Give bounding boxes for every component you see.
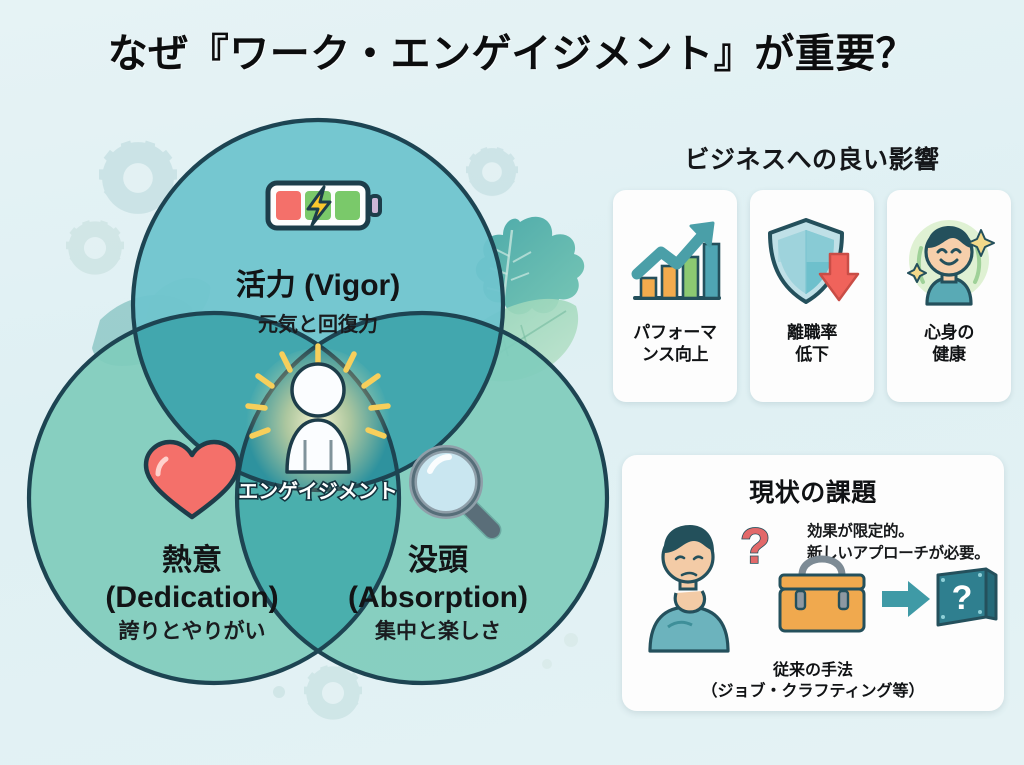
dedication-title: 熱意	[162, 543, 222, 577]
impact-card-list: パフォーマ ンス向上	[612, 190, 1012, 402]
impact-card-health[interactable]: 心身の 健康	[887, 190, 1011, 402]
question-mark-icon: ?	[740, 518, 771, 574]
battery-charging-icon	[268, 183, 380, 228]
impact-card-label: 心身の 健康	[924, 322, 974, 366]
business-impact-panel: ビジネスへの良い影響 パフォーマ ンス向	[612, 140, 1012, 430]
challenge-caption: 従来の手法 （ジョブ・クラフティング等）	[622, 661, 1004, 703]
toolbox-icon	[780, 559, 864, 631]
svg-text:?: ?	[740, 518, 771, 574]
impact-card-performance[interactable]: パフォーマ ンス向上	[613, 190, 737, 402]
current-challenge-panel: 現状の課題 効果が限定的。 新しいアプローチが必要。 ?	[622, 455, 1004, 711]
impact-card-turnover[interactable]: 離職率 低下	[750, 190, 874, 402]
vigor-subtitle: 元気と回復力	[258, 312, 378, 336]
dedication-subtitle: 誇りとやりがい	[119, 619, 266, 643]
title-bar: なぜ『ワーク・エンゲイジメント』が重要？	[0, 0, 1024, 100]
arrow-right-icon	[882, 581, 930, 617]
healthy-person-icon	[895, 202, 1003, 318]
question-box-icon: ?	[938, 569, 996, 625]
dedication-title-en: (Dedication)	[105, 581, 278, 614]
absorption-subtitle: 集中と楽しさ	[374, 619, 501, 643]
impact-card-label: 離職率 低下	[787, 322, 837, 366]
absorption-title: 没頭	[408, 544, 469, 577]
absorption-title-en: (Absorption)	[348, 581, 528, 614]
engagement-label: エンゲイジメント	[238, 480, 398, 503]
svg-text:?: ?	[952, 579, 973, 617]
growth-chart-icon	[621, 202, 729, 318]
vigor-title: 活力 (Vigor)	[236, 269, 400, 302]
infographic-canvas: なぜ『ワーク・エンゲイジメント』が重要？	[0, 0, 1024, 765]
thinking-person-icon	[650, 525, 728, 651]
venn-diagram: 活力 (Vigor) 元気と回復力 熱意 (Dedication) 誇りとやりが…	[18, 100, 618, 720]
page-title: なぜ『ワーク・エンゲイジメント』が重要？	[108, 21, 916, 79]
shield-down-arrow-icon	[758, 202, 866, 318]
impact-heading: ビジネスへの良い影響	[612, 140, 1012, 176]
impact-card-label: パフォーマ ンス向上	[633, 322, 717, 366]
challenge-heading: 現状の課題	[622, 473, 1004, 509]
challenge-illustration: ? ?	[632, 515, 1004, 655]
